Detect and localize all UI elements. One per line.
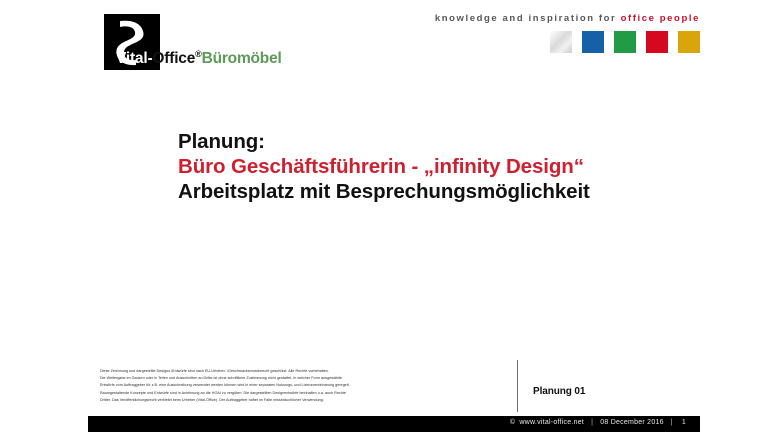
- legal-line-4: Raumgestaltende Konzepte und Entwürfe si…: [100, 390, 500, 397]
- footer-separator-1: |: [584, 419, 600, 426]
- swatch-gold: [678, 31, 700, 53]
- footer-date: 08 December 2016: [600, 419, 664, 426]
- legal-line-3: Entwürfe vom Auftraggeber für z.B. eine …: [100, 382, 500, 389]
- legal-line-2: Die Weitergabe im Ganzen oder in Teilen …: [100, 375, 500, 382]
- tagline-text-accent: office people: [621, 13, 700, 24]
- footer-separator-2: |: [664, 419, 680, 426]
- footer-bar: © www.vital-office.net | 08 December 201…: [88, 416, 700, 432]
- wordmark-vital: Vital-: [116, 50, 152, 67]
- brand-logo[interactable]: Vital-Office®Büromöbel: [104, 14, 279, 70]
- slide-header: Vital-Office®Büromöbel knowledge and ins…: [0, 0, 768, 88]
- tagline-text-primary: knowledge and inspiration for: [435, 13, 617, 24]
- swatch-green: [614, 31, 636, 53]
- title-line-project: Büro Geschäftsführerin - „infinity Desig…: [178, 154, 738, 179]
- brand-tagline: knowledge and inspiration for office peo…: [435, 13, 700, 24]
- footer-page-number: 1: [680, 419, 692, 426]
- swatch-blue: [582, 31, 604, 53]
- footer-website[interactable]: www.vital-office.net: [519, 419, 584, 426]
- footer-divider: [517, 360, 518, 412]
- footer-meta: © www.vital-office.net | 08 December 201…: [510, 419, 692, 426]
- brand-color-swatches: [550, 31, 700, 53]
- swatch-silver: [550, 31, 572, 53]
- slide-canvas: Vital-Office®Büromöbel knowledge and ins…: [0, 0, 768, 432]
- wordmark-bueromoebel: Büromöbel: [202, 50, 282, 67]
- wordmark-office: Office: [152, 50, 195, 67]
- title-line-subtitle: Arbeitsplatz mit Besprechungsmöglichkeit: [178, 179, 738, 204]
- plan-label: Planung 01: [533, 386, 585, 397]
- legal-line-5: Dritter. Das Veröffentlichungsrecht verb…: [100, 397, 500, 404]
- legal-line-1: Diese Zeichnung und dargestellte Designs…: [100, 368, 500, 375]
- slide-title: Planung: Büro Geschäftsführerin - „infin…: [178, 129, 738, 204]
- title-line-planung: Planung:: [178, 129, 738, 154]
- swatch-red: [646, 31, 668, 53]
- copyright-icon: ©: [510, 419, 515, 426]
- brand-wordmark: Vital-Office®Büromöbel: [116, 50, 282, 67]
- legal-disclaimer: Diese Zeichnung und dargestellte Designs…: [100, 368, 500, 404]
